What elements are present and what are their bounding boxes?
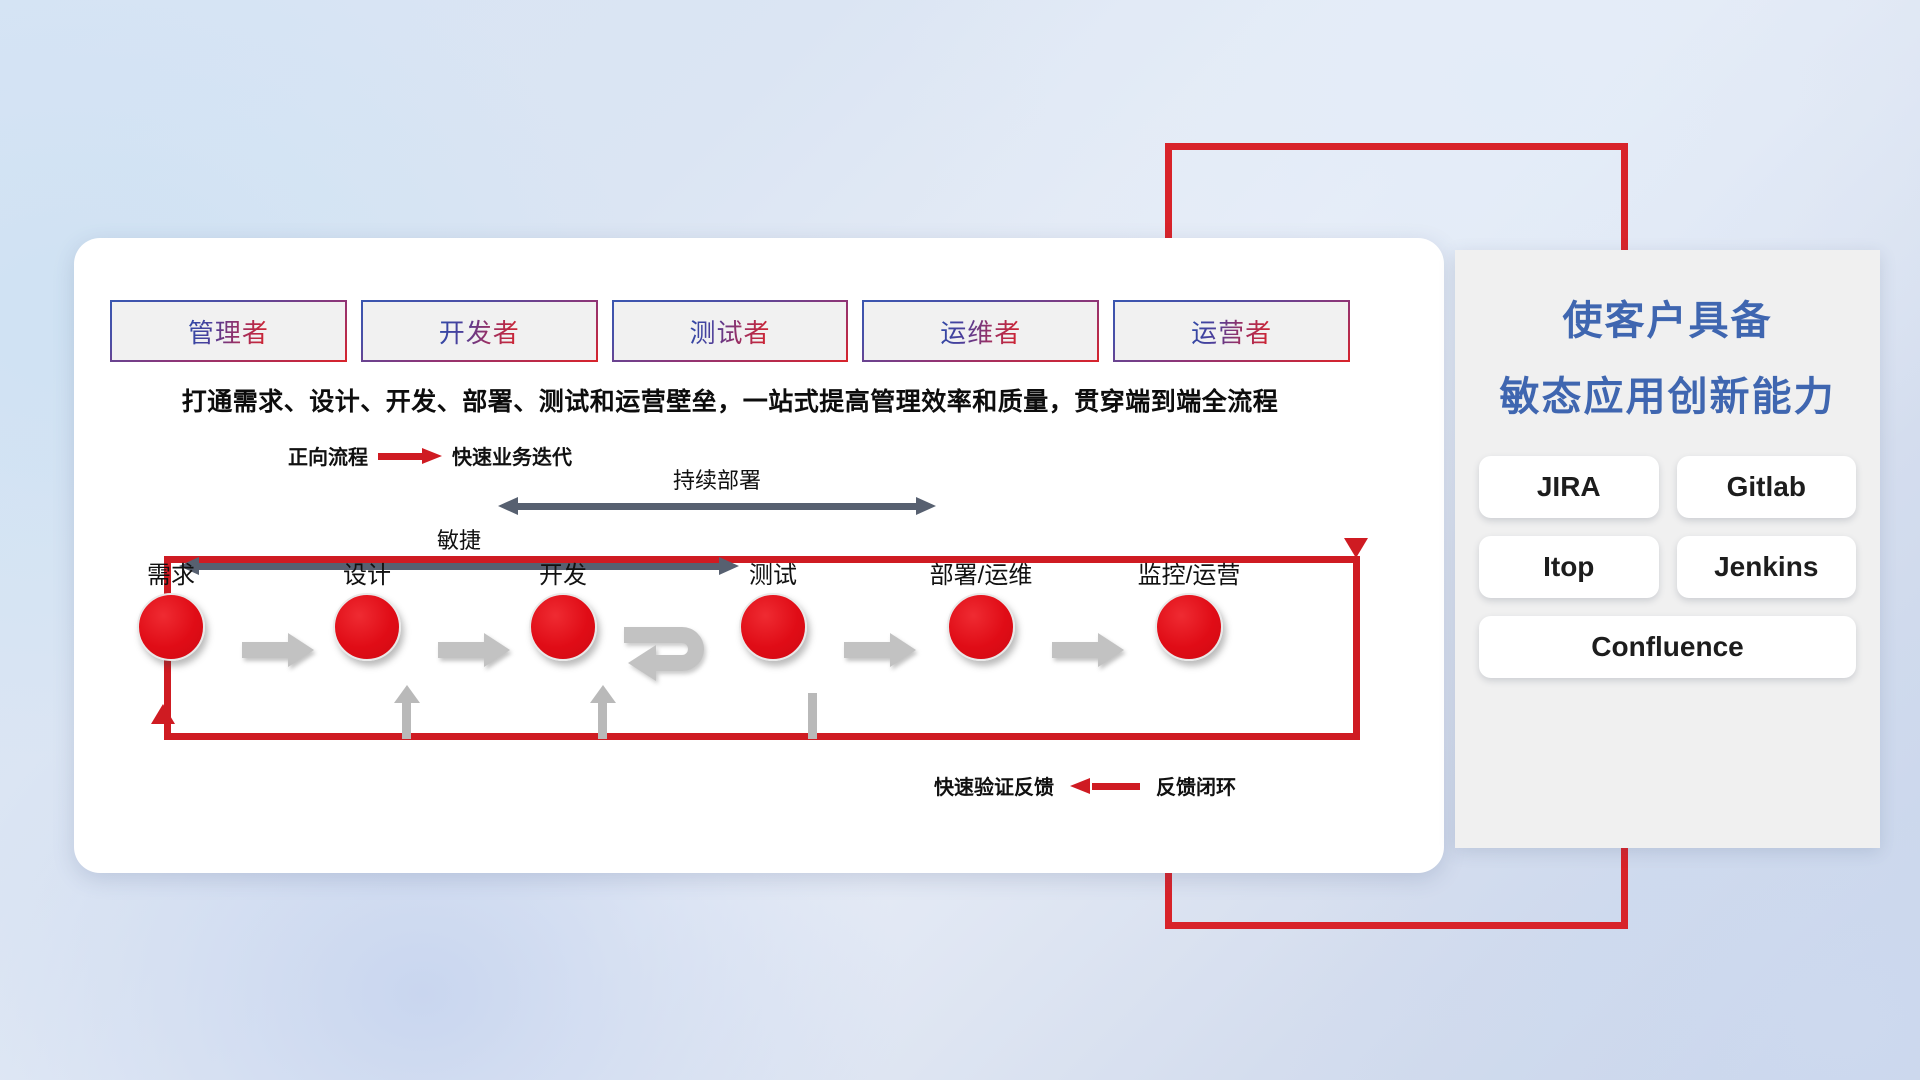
span-agile: 敏捷 xyxy=(179,523,739,575)
tool-chip-label: Confluence xyxy=(1591,631,1743,663)
flow-node-label: 部署/运维 xyxy=(930,555,1033,590)
tool-chip-label: Itop xyxy=(1543,551,1594,583)
feedback-label-left: 快速验证反馈 xyxy=(934,771,1054,800)
arrow-right-red-icon xyxy=(378,448,442,464)
role-chip-label: 运维者 xyxy=(940,313,1021,350)
tool-chip-jira[interactable]: JIRA xyxy=(1479,456,1659,518)
flow-node-requirement[interactable]: 需求 xyxy=(132,593,210,661)
forward-flow-label-left: 正向流程 xyxy=(288,441,368,470)
span-label: 持续部署 xyxy=(498,463,936,495)
flow-node-label: 需求 xyxy=(147,555,195,590)
loop-arrow-down-icon xyxy=(1344,538,1368,558)
role-chip-label: 管理者 xyxy=(188,313,269,350)
role-chip-tester[interactable]: 测试者 xyxy=(612,300,849,362)
node-stem xyxy=(808,693,817,739)
arrow-right-gray-icon xyxy=(844,633,916,667)
main-card: 管理者 开发者 测试者 运维者 运营者 打通需求、设计、开发、部署、测试和运营壁… xyxy=(74,238,1444,873)
panel-title-line2: 敏态应用创新能力 xyxy=(1455,364,1880,422)
node-stem-arrow-icon xyxy=(394,685,420,703)
node-stem xyxy=(598,701,607,739)
arrow-uturn-gray-icon xyxy=(622,621,718,693)
double-arrow-icon xyxy=(498,497,936,515)
role-chip-operations[interactable]: 运营者 xyxy=(1113,300,1350,362)
tool-chip-confluence[interactable]: Confluence xyxy=(1479,616,1856,678)
slide-canvas: 管理者 开发者 测试者 运维者 运营者 打通需求、设计、开发、部署、测试和运营壁… xyxy=(0,0,1920,1080)
flow-node-dot xyxy=(947,593,1015,661)
flow-node-monitor-operations[interactable]: 监控/运营 xyxy=(1150,593,1228,661)
value-panel: 使客户具备 敏态应用创新能力 JIRA Gitlab Itop Jenkins … xyxy=(1455,250,1880,848)
flow-node-design[interactable]: 设计 xyxy=(328,593,406,661)
tool-chip-jenkins[interactable]: Jenkins xyxy=(1677,536,1857,598)
role-chip-label: 测试者 xyxy=(689,313,770,350)
tool-chip-gitlab[interactable]: Gitlab xyxy=(1677,456,1857,518)
flow-node-label: 开发 xyxy=(539,555,587,590)
node-stem xyxy=(402,701,411,739)
arrow-left-red-icon xyxy=(1070,778,1140,794)
flow-node-dot xyxy=(529,593,597,661)
node-stem-arrow-icon xyxy=(590,685,616,703)
tool-chip-label: JIRA xyxy=(1537,471,1601,503)
role-chip-developer[interactable]: 开发者 xyxy=(361,300,598,362)
role-chip-ops[interactable]: 运维者 xyxy=(862,300,1099,362)
span-continuous-deployment: 持续部署 xyxy=(498,463,936,515)
flow-node-row: 需求 设计 开发 测试 xyxy=(110,593,1350,713)
double-arrow-icon xyxy=(179,557,739,575)
role-chip-manager[interactable]: 管理者 xyxy=(110,300,347,362)
flow-node-testing[interactable]: 测试 xyxy=(734,593,812,661)
description-text: 打通需求、设计、开发、部署、测试和运营壁垒，一站式提高管理效率和质量，贯穿端到端… xyxy=(110,382,1350,418)
flow-node-development[interactable]: 开发 xyxy=(524,593,602,661)
tool-chip-grid: JIRA Gitlab Itop Jenkins Confluence xyxy=(1479,456,1856,678)
span-label: 敏捷 xyxy=(179,523,739,555)
arrow-right-gray-icon xyxy=(438,633,510,667)
flow-node-dot xyxy=(137,593,205,661)
flow-node-dot xyxy=(739,593,807,661)
flow-node-deploy-ops[interactable]: 部署/运维 xyxy=(942,593,1020,661)
arrow-right-gray-icon xyxy=(242,633,314,667)
feedback-loop-legend: 快速验证反馈 反馈闭环 xyxy=(934,771,1236,800)
tool-chip-itop[interactable]: Itop xyxy=(1479,536,1659,598)
flow-node-dot xyxy=(1155,593,1223,661)
flow-node-dot xyxy=(333,593,401,661)
tool-chip-label: Jenkins xyxy=(1714,551,1818,583)
feedback-label-right: 反馈闭环 xyxy=(1156,771,1236,800)
flow-node-label: 设计 xyxy=(343,555,391,590)
panel-title-line1: 使客户具备 xyxy=(1455,288,1880,346)
flow-node-label: 监控/运营 xyxy=(1138,555,1241,590)
role-chip-label: 运营者 xyxy=(1191,313,1272,350)
role-chip-row: 管理者 开发者 测试者 运维者 运营者 xyxy=(110,300,1350,362)
arrow-right-gray-icon xyxy=(1052,633,1124,667)
tool-chip-label: Gitlab xyxy=(1727,471,1806,503)
role-chip-label: 开发者 xyxy=(439,313,520,350)
flow-node-label: 测试 xyxy=(749,555,797,590)
